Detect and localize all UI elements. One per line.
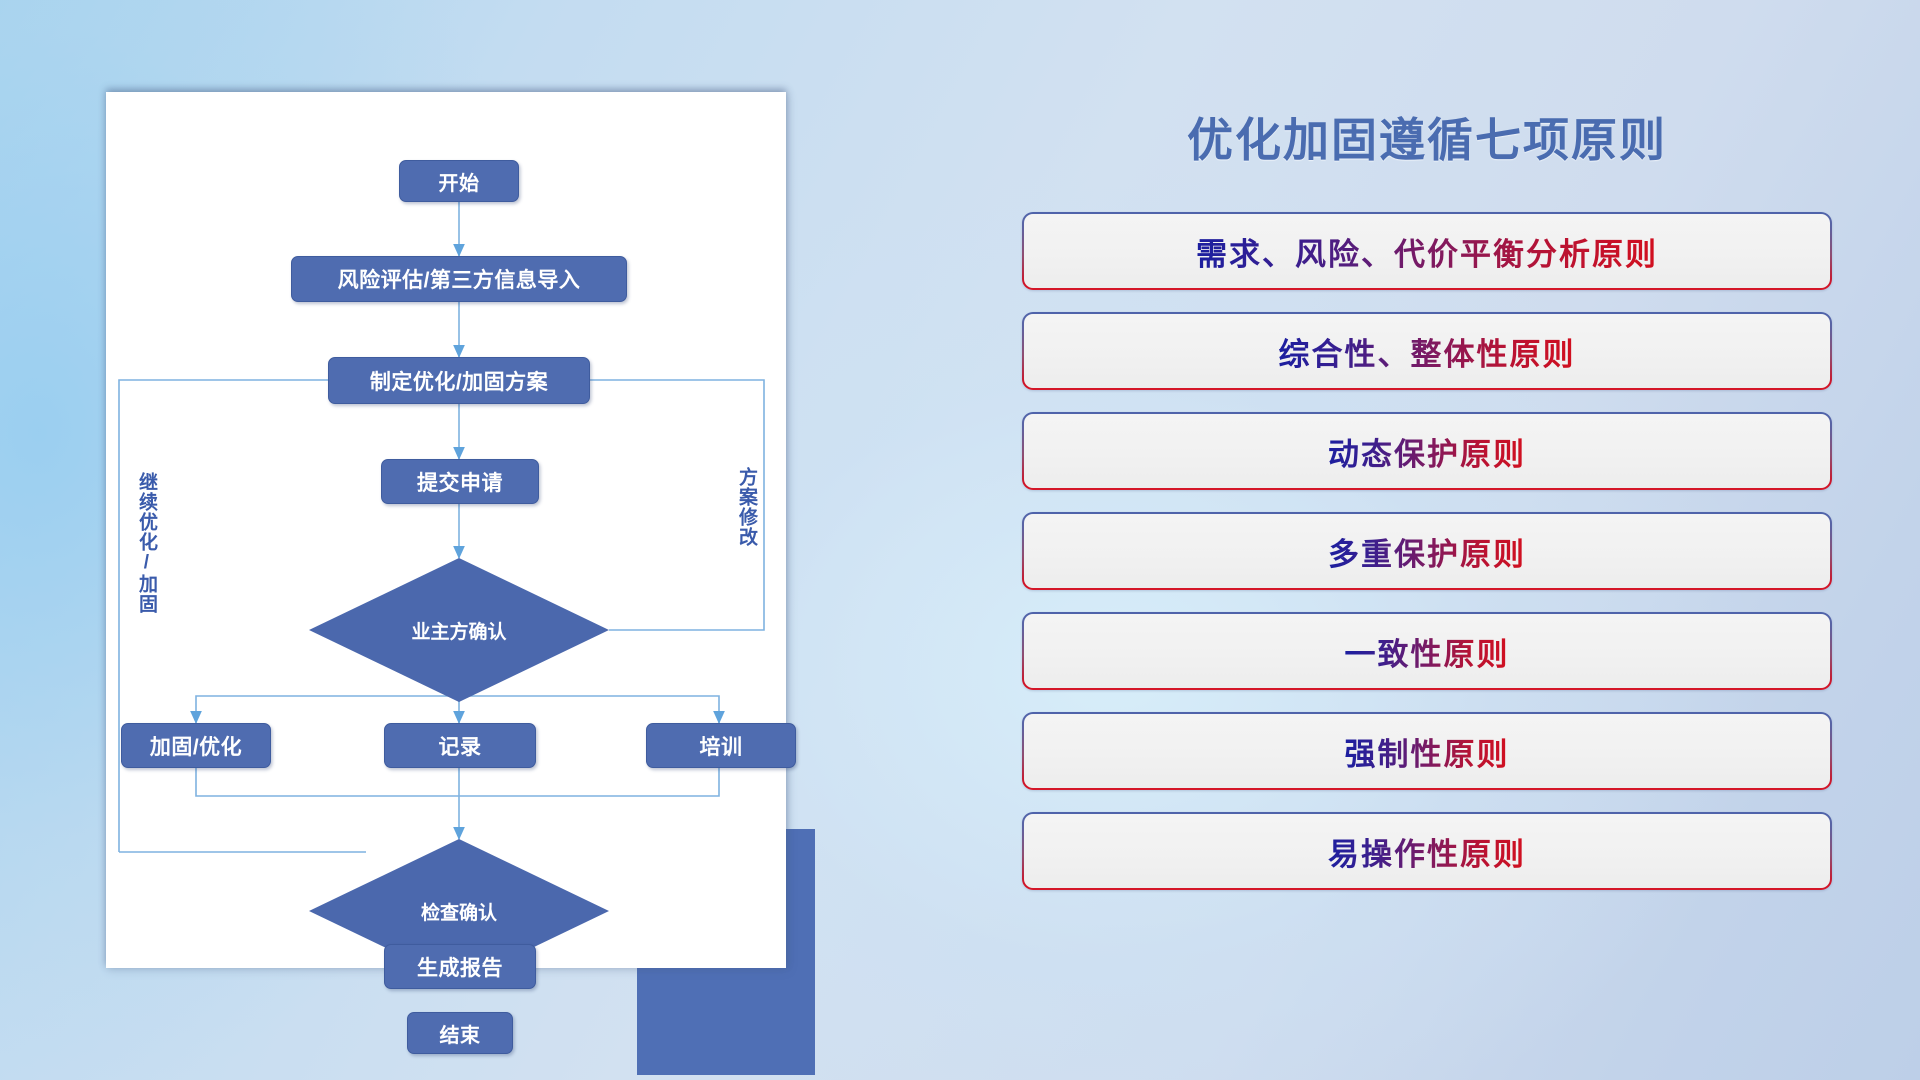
- flowchart-region: 开始 风险评估/第三方信息导入 制定优化/加固方案 提交申请 业主方确认 加固/…: [106, 92, 786, 968]
- principle-label: 需求、风险、代价平衡分析原则: [1196, 229, 1658, 274]
- flow-node-label: 风险评估/第三方信息导入: [338, 264, 581, 294]
- principle-label: 易操作性原则: [1328, 829, 1526, 874]
- principle-card-inner: 动态保护原则: [1024, 414, 1830, 488]
- principle-label: 强制性原则: [1345, 729, 1510, 774]
- flow-node-label: 生成报告: [417, 952, 503, 982]
- flowchart-panel: 开始 风险评估/第三方信息导入 制定优化/加固方案 提交申请 业主方确认 加固/…: [106, 92, 786, 968]
- flowchart-connectors: [106, 92, 786, 968]
- flow-node-reinforce-optimize[interactable]: 加固/优化: [121, 723, 271, 768]
- principle-label: 多重保护原则: [1328, 529, 1526, 574]
- flow-edge-label-plan-revision: 方案修改: [736, 467, 756, 547]
- flow-decision-label: 业主方确认: [411, 617, 506, 644]
- principle-card[interactable]: 多重保护原则: [1022, 512, 1832, 590]
- flow-node-submit-application[interactable]: 提交申请: [381, 459, 539, 504]
- principles-list: 需求、风险、代价平衡分析原则 综合性、整体性原则 动态保护原则 多重保护原则 一…: [1022, 212, 1832, 890]
- flow-edge-label-continue-optimize: 继续优化/加固: [136, 472, 156, 614]
- principle-card[interactable]: 动态保护原则: [1022, 412, 1832, 490]
- principle-card-inner: 需求、风险、代价平衡分析原则: [1024, 214, 1830, 288]
- principle-card-inner: 一致性原则: [1024, 614, 1830, 688]
- principle-card[interactable]: 一致性原则: [1022, 612, 1832, 690]
- flow-node-training[interactable]: 培训: [646, 723, 796, 768]
- principle-card[interactable]: 易操作性原则: [1022, 812, 1832, 890]
- principle-label: 动态保护原则: [1328, 429, 1526, 474]
- principle-card[interactable]: 强制性原则: [1022, 712, 1832, 790]
- page-title: 优化加固遵循七项原则: [1022, 104, 1832, 170]
- principle-card[interactable]: 需求、风险、代价平衡分析原则: [1022, 212, 1832, 290]
- principles-region: 优化加固遵循七项原则 需求、风险、代价平衡分析原则 综合性、整体性原则 动态保护…: [1022, 104, 1832, 890]
- flow-node-label: 记录: [439, 731, 482, 761]
- principle-card-inner: 易操作性原则: [1024, 814, 1830, 888]
- flow-node-record[interactable]: 记录: [384, 723, 536, 768]
- flow-node-label: 加固/优化: [150, 731, 242, 761]
- flow-node-plan[interactable]: 制定优化/加固方案: [328, 357, 590, 404]
- flow-node-label: 提交申请: [417, 467, 503, 497]
- flow-node-start[interactable]: 开始: [399, 160, 519, 202]
- flow-node-generate-report[interactable]: 生成报告: [384, 944, 536, 989]
- principle-card-inner: 多重保护原则: [1024, 514, 1830, 588]
- principle-card-inner: 综合性、整体性原则: [1024, 314, 1830, 388]
- principle-card[interactable]: 综合性、整体性原则: [1022, 312, 1832, 390]
- principle-label: 综合性、整体性原则: [1279, 329, 1576, 374]
- flow-node-label: 制定优化/加固方案: [370, 366, 548, 396]
- flow-decision-label: 检查确认: [421, 898, 497, 925]
- principle-label: 一致性原则: [1345, 629, 1510, 674]
- flow-node-risk-assessment[interactable]: 风险评估/第三方信息导入: [291, 256, 627, 302]
- flow-node-label: 培训: [700, 731, 743, 761]
- principle-card-inner: 强制性原则: [1024, 714, 1830, 788]
- flow-node-label: 结束: [440, 1019, 481, 1048]
- flow-node-label: 开始: [439, 167, 480, 196]
- flow-node-end[interactable]: 结束: [407, 1012, 513, 1054]
